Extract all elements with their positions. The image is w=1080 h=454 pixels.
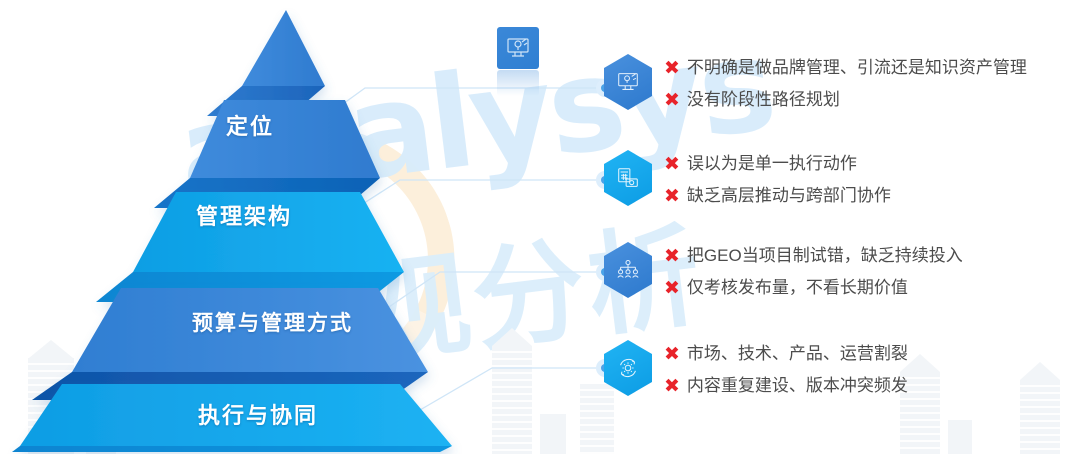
bullet-text: 仅考核发布量，不看长期价值 (687, 277, 908, 298)
bullet-text: 内容重复建设、版本冲突频发 (687, 375, 908, 396)
issue-row: ✖ 不明确是做品牌管理、引流还是知识资产管理 ✖ 没有阶段性路径规划 (600, 52, 1027, 114)
bullet-item: ✖ 没有阶段性路径规划 (664, 89, 1027, 110)
positioning-monitor-icon (497, 27, 539, 69)
org-chart-icon (604, 242, 652, 298)
gear-cycle-icon (604, 340, 652, 396)
infographic-canvas: analysys 易观分析 (0, 0, 1080, 454)
bullet-text: 不明确是做品牌管理、引流还是知识资产管理 (687, 57, 1027, 78)
pyramid-label-2: 管理架构 (196, 199, 292, 231)
pyramid-label-1: 定位 (226, 109, 274, 141)
bullet-item: ✖ 误以为是单一执行动作 (664, 153, 891, 174)
x-mark-icon: ✖ (664, 344, 680, 364)
x-mark-icon: ✖ (664, 154, 680, 174)
issue-row: ✖ 市场、技术、产品、运营割裂 ✖ 内容重复建设、版本冲突频发 (600, 338, 908, 400)
bullet-text: 市场、技术、产品、运营割裂 (687, 343, 908, 364)
bullet-list: ✖ 误以为是单一执行动作 ✖ 缺乏高层推动与跨部门协作 (664, 153, 891, 206)
bullet-list: ✖ 不明确是做品牌管理、引流还是知识资产管理 ✖ 没有阶段性路径规划 (664, 57, 1027, 110)
issue-row: ✖ 把GEO当项目制试错，缺乏持续投入 ✖ 仅考核发布量，不看长期价值 (600, 240, 963, 302)
row-icon-hex (600, 148, 656, 210)
bullet-text: 把GEO当项目制试错，缺乏持续投入 (687, 245, 963, 266)
bullet-item: ✖ 内容重复建设、版本冲突频发 (664, 375, 908, 396)
pyramid-label-3: 预算与管理方式 (192, 307, 353, 337)
bullet-list: ✖ 把GEO当项目制试错，缺乏持续投入 ✖ 仅考核发布量，不看长期价值 (664, 245, 963, 298)
row-icon-hex (600, 240, 656, 302)
float-icon-reflection (497, 70, 539, 96)
monitor-location-icon (604, 54, 652, 110)
bullet-item: ✖ 把GEO当项目制试错，缺乏持续投入 (664, 245, 963, 266)
issue-row: ✖ 误以为是单一执行动作 ✖ 缺乏高层推动与跨部门协作 (600, 148, 891, 210)
x-mark-icon: ✖ (664, 376, 680, 396)
x-mark-icon: ✖ (664, 278, 680, 298)
x-mark-icon: ✖ (664, 90, 680, 110)
bullet-text: 缺乏高层推动与跨部门协作 (687, 185, 891, 206)
pyramid-label-4: 执行与协同 (198, 398, 318, 430)
bullet-list: ✖ 市场、技术、产品、运营割裂 ✖ 内容重复建设、版本冲突频发 (664, 343, 908, 396)
row-icon-hex (600, 52, 656, 114)
x-mark-icon: ✖ (664, 186, 680, 206)
row-icon-hex (600, 338, 656, 400)
bullet-text: 没有阶段性路径规划 (687, 89, 840, 110)
bullet-item: ✖ 仅考核发布量，不看长期价值 (664, 277, 963, 298)
bullet-item: ✖ 缺乏高层推动与跨部门协作 (664, 185, 891, 206)
pyramid-level-3 (32, 288, 428, 400)
bullet-item: ✖ 不明确是做品牌管理、引流还是知识资产管理 (664, 57, 1027, 78)
calculator-money-icon (604, 150, 652, 206)
x-mark-icon: ✖ (664, 246, 680, 266)
bullet-text: 误以为是单一执行动作 (687, 153, 857, 174)
issue-rows: ✖ 不明确是做品牌管理、引流还是知识资产管理 ✖ 没有阶段性路径规划 (600, 0, 1080, 454)
bullet-item: ✖ 市场、技术、产品、运营割裂 (664, 343, 908, 364)
x-mark-icon: ✖ (664, 58, 680, 78)
